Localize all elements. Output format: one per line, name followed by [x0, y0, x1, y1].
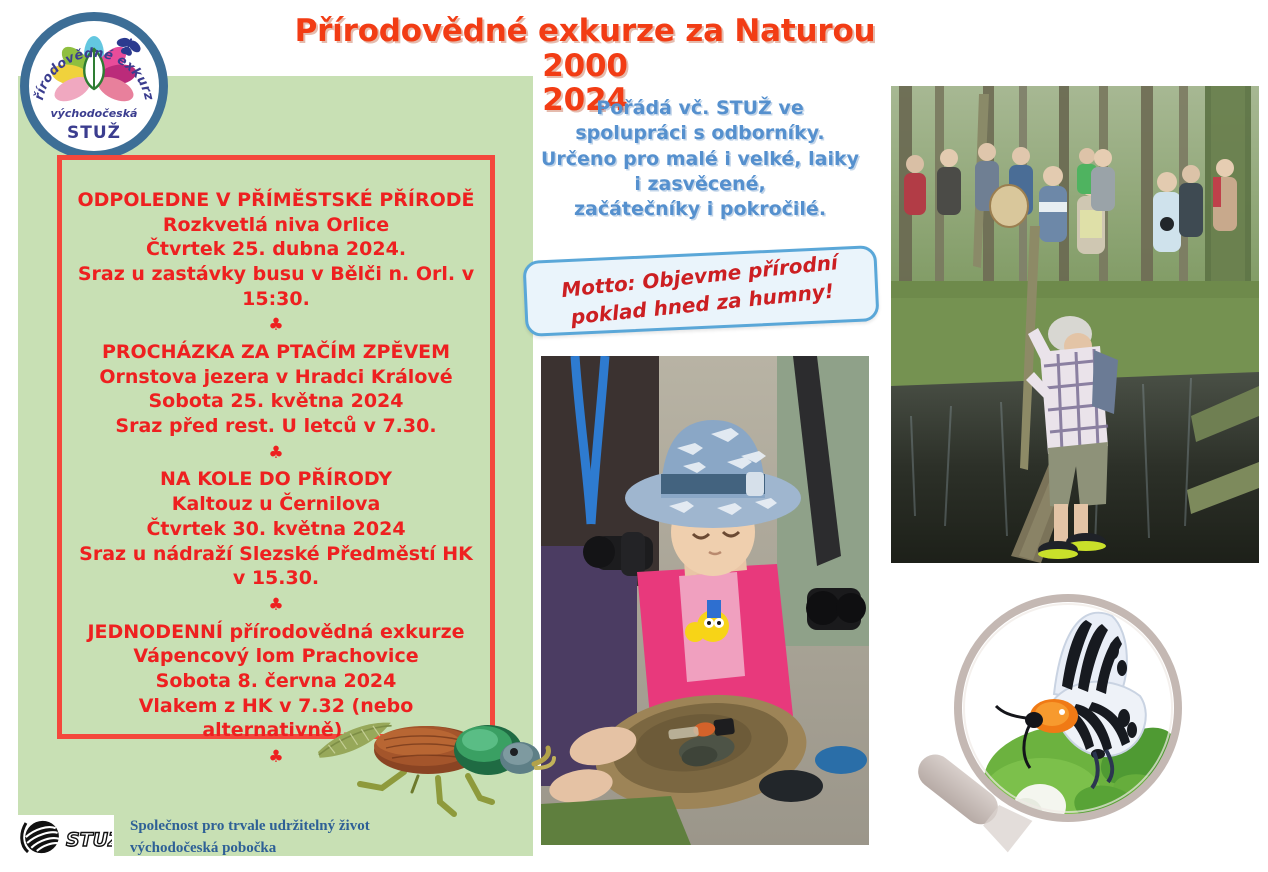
program-box: ODPOLEDNE V PŘÍMĚSTSKÉ PŘÍRODĚ Rozkvetlá…	[57, 155, 495, 739]
footer-line-1: Společnost pro trvale udržitelný život	[130, 816, 370, 838]
entry-title: PROCHÁZKA ZA PTAČÍM ZPĚVEM	[74, 340, 478, 365]
beetle-on-grass-illustration	[308, 706, 556, 826]
entry-meeting: Sraz u zastávky busu v Bělči n. Orl. v 1…	[74, 262, 478, 311]
excursion-logo-badge: Přírodovědné exkurze východočeská STUŽ	[20, 12, 168, 160]
footer-line-2: východočeská pobočka	[130, 838, 370, 860]
program-entry: ODPOLEDNE V PŘÍMĚSTSKÉ PŘÍRODĚ Rozkvetlá…	[74, 188, 478, 311]
child-photo-artwork	[541, 356, 869, 845]
stream-photo-artwork	[891, 86, 1259, 563]
logo-artwork: Přírodovědné exkurze východočeská STUŽ	[29, 21, 159, 151]
clover-separator-icon: ♣	[74, 313, 478, 338]
magnifier-butterfly-illustration	[900, 590, 1200, 860]
entry-meeting: Sraz před rest. U letců v 7.30.	[74, 414, 478, 439]
intro-line: i zasvěcené,	[510, 172, 890, 197]
intro-line: začátečníky i pokročilé.	[510, 197, 890, 222]
clover-separator-icon: ♣	[74, 593, 478, 618]
entry-place: Ornstova jezera v Hradci Králové	[74, 365, 478, 390]
entry-title: NA KOLE DO PŘÍRODY	[74, 467, 478, 492]
beetle-artwork	[308, 706, 556, 826]
intro-paragraph: Pořádá vč. STUŽ ve spolupráci s odborník…	[510, 96, 890, 222]
entry-date: Sobota 8. června 2024	[74, 669, 478, 694]
entry-place: Vápencový lom Prachovice	[74, 644, 478, 669]
footer-text: Společnost pro trvale udržitelný život v…	[130, 816, 370, 860]
entry-date: Čtvrtek 30. května 2024	[74, 517, 478, 542]
intro-line: Pořádá vč. STUŽ ve	[510, 96, 890, 121]
program-entry: PROCHÁZKA ZA PTAČÍM ZPĚVEM Ornstova jeze…	[74, 340, 478, 439]
logo-bottom-text: STUŽ	[67, 121, 121, 143]
entry-place: Rozkvetlá niva Orlice	[74, 213, 478, 238]
motto-callout-box: Motto: Objevme přírodní poklad hned za h…	[522, 245, 879, 337]
entry-place: Kaltouz u Černilova	[74, 492, 478, 517]
child-examining-hat-photo	[541, 356, 869, 845]
clover-separator-icon: ♣	[74, 441, 478, 466]
entry-date: Sobota 25. května 2024	[74, 389, 478, 414]
page-title-line-1: Přírodovědné exkurze za Naturou 2000	[250, 14, 920, 83]
program-list: ODPOLEDNE V PŘÍMĚSTSKÉ PŘÍRODĚ Rozkvetlá…	[62, 160, 490, 734]
poster-canvas: Přírodovědné exkurze východočeská STUŽ P…	[0, 0, 1268, 872]
stuz-logo-label: STUŽ	[66, 828, 112, 851]
program-entry: NA KOLE DO PŘÍRODY Kaltouz u Černilova Č…	[74, 467, 478, 590]
entry-title: JEDNODENNÍ přírodovědná exkurze	[74, 620, 478, 645]
intro-line: Určeno pro malé i velké, laiky	[510, 147, 890, 172]
magnifier-artwork	[900, 590, 1200, 860]
logo-middle-text: východočeská	[51, 107, 138, 120]
stuz-logo: STUŽ	[18, 815, 114, 861]
entry-date: Čtvrtek 25. dubna 2024.	[74, 237, 478, 262]
entry-title: ODPOLEDNE V PŘÍMĚSTSKÉ PŘÍRODĚ	[74, 188, 478, 213]
stuz-logo-artwork: STUŽ	[20, 816, 112, 860]
group-crossing-stream-photo	[891, 86, 1259, 563]
entry-meeting: Sraz u nádraží Slezské Předměstí HK v 15…	[74, 542, 478, 591]
footer: STUŽ Společnost pro trvale udržitelný ži…	[18, 812, 448, 864]
motto-text: Motto: Objevme přírodní poklad hned za h…	[524, 239, 877, 344]
intro-line: spolupráci s odborníky.	[510, 121, 890, 146]
